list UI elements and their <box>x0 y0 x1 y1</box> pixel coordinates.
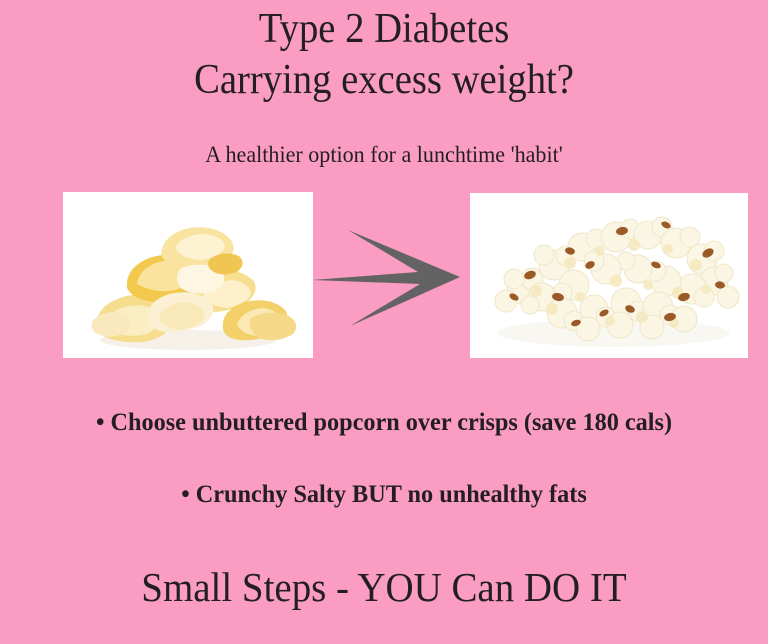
crisps-illustration <box>63 192 313 358</box>
page-title-line-1: Type 2 Diabetes <box>31 4 738 54</box>
heading-block: Type 2 Diabetes Carrying excess weight? <box>0 4 768 106</box>
crisps-photo <box>63 192 313 358</box>
tagline: Small Steps - YOU Can DO IT <box>19 562 749 612</box>
transition-arrow <box>310 228 465 328</box>
right-arrow-icon <box>310 228 465 328</box>
poster-canvas: Type 2 Diabetes Carrying excess weight? … <box>0 0 768 644</box>
popcorn-photo <box>470 193 748 358</box>
popcorn-illustration <box>470 193 748 358</box>
page-title-line-2: Carrying excess weight? <box>31 54 738 106</box>
bullet-item-1: • Choose unbuttered popcorn over crisps … <box>12 406 757 440</box>
bullet-item-2: • Crunchy Salty BUT no unhealthy fats <box>12 478 757 512</box>
subtitle: A healthier option for a lunchtime 'habi… <box>15 141 752 169</box>
